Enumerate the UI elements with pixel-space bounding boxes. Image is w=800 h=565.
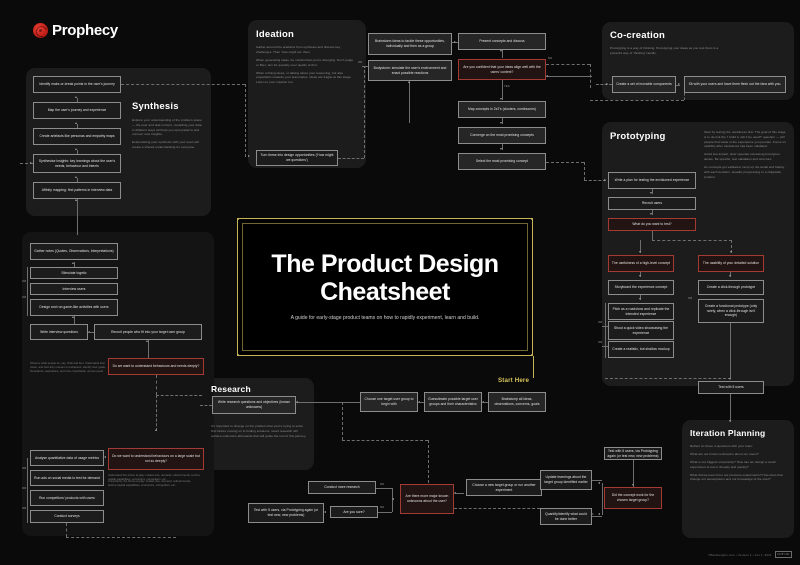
flow-box-pro8[interactable]: Shoot a quick video showcasing the exper… xyxy=(608,321,674,340)
connector xyxy=(502,80,503,100)
edge-label-or: OR xyxy=(22,487,26,490)
flow-box-res13[interactable]: Analyse quantitative data of usage metri… xyxy=(30,450,104,466)
page-subtitle: A guide for early-stage product teams on… xyxy=(291,315,480,323)
arrow-down xyxy=(729,275,731,277)
section-body-synthesis: Explore your understanding of the proble… xyxy=(132,118,204,153)
connector xyxy=(602,483,603,515)
connector-dashed xyxy=(66,537,176,538)
section-body-ideation: Gather around the artefacts from synthes… xyxy=(256,45,356,88)
flow-box-res7[interactable]: Interview users xyxy=(30,283,118,295)
arrow-up xyxy=(146,340,148,342)
flow-box-pro11[interactable]: Create a functional prototype (only rare… xyxy=(698,299,764,323)
flow-box-itr4[interactable]: Test with 5 users, via Prototyping again… xyxy=(248,503,324,523)
edge-label-no: NO xyxy=(548,57,552,60)
arrow-down xyxy=(639,275,641,277)
connector-dashed xyxy=(156,375,157,395)
arrow-right xyxy=(30,162,32,164)
connector-dashed xyxy=(342,440,428,441)
connector xyxy=(592,516,602,517)
flow-box-pro12[interactable]: Test with 5 users xyxy=(698,381,764,394)
edge-label-or: OR xyxy=(22,507,26,510)
flow-box-ide5-decision[interactable]: Are you confident that your ideas align … xyxy=(458,59,546,80)
edge-label-or: OR xyxy=(358,61,362,64)
flow-box-ide8[interactable]: Select the most promising concept xyxy=(458,153,546,170)
flow-box-syn1[interactable]: Identify make-or-break points in the use… xyxy=(33,76,121,93)
connector-dashed xyxy=(590,100,684,101)
arrow-down xyxy=(500,122,502,124)
flow-box-syn2[interactable]: Map the user's journey and experience xyxy=(33,102,121,119)
connector xyxy=(605,303,606,358)
arrow-up xyxy=(72,316,74,318)
flow-box-res8[interactable]: Design and run game-like activities with… xyxy=(30,299,118,316)
flow-box-itr8[interactable]: Quantify/identify what could be done bet… xyxy=(540,508,592,525)
page-title: The Product Design Cheatsheet xyxy=(243,251,527,306)
edge-label-no: NO xyxy=(380,506,384,509)
arrow-down xyxy=(730,251,732,253)
connector-dashed xyxy=(342,402,343,440)
connector xyxy=(418,402,424,403)
corner-dot xyxy=(531,218,534,221)
corner-dot xyxy=(237,354,240,357)
connector xyxy=(392,488,393,512)
flow-box-res16[interactable]: Conduct surveys xyxy=(30,510,104,523)
section-title-cocreation: Co-creation xyxy=(610,30,665,41)
flow-box-itr7[interactable]: Update learnings about the target group … xyxy=(540,470,592,490)
connector-dashed xyxy=(584,162,585,180)
section-body-research: It's important to diverge on the problem… xyxy=(211,424,307,442)
flow-box-res15[interactable]: Run competitors' products with users xyxy=(30,490,104,506)
flow-box-res9[interactable]: Write interview questions xyxy=(30,324,88,340)
edge-label-or: OR xyxy=(688,297,692,300)
edge-label-or: OR xyxy=(598,321,602,324)
arrow-left xyxy=(104,456,106,458)
flow-box-ide7[interactable]: Converge on the most promising concepts xyxy=(458,127,546,144)
arrow-right xyxy=(606,83,608,85)
flow-box-res4[interactable]: Braindump all ideas, observations, conce… xyxy=(488,392,546,412)
flow-box-ide1[interactable]: Turn these into design opportunities ('H… xyxy=(256,150,338,166)
arrow-left xyxy=(392,498,394,500)
connector-dashed xyxy=(605,378,731,379)
edge-label-or: OR xyxy=(22,280,26,283)
flow-box-pro3-decision[interactable]: What do you want to test? xyxy=(608,218,696,231)
corner-dot xyxy=(237,218,240,221)
section-body-cocreation: Prototyping is a way of thinking. Protot… xyxy=(610,46,728,59)
section-body-prototyping: Start by testing the usefulness first. T… xyxy=(704,130,788,183)
flow-box-res6[interactable]: Stimulate togetic xyxy=(30,267,118,279)
flow-box-pro2[interactable]: Recruit users xyxy=(608,197,696,210)
flow-box-itr3[interactable]: Are you sure? xyxy=(330,506,378,518)
flow-box-pro10[interactable]: Create a click-through prototype xyxy=(698,280,764,295)
prophecy-swirl-icon xyxy=(33,23,48,38)
connector-dashed xyxy=(684,93,685,100)
section-title-synthesis: Synthesis xyxy=(132,101,179,112)
arrow-left xyxy=(598,513,600,515)
flow-box-itr6-decision[interactable]: Did the concept work for the chosen targ… xyxy=(604,487,662,509)
flow-box-pro1[interactable]: Write a plan for testing the envisioned … xyxy=(608,172,696,189)
arrow-right xyxy=(248,155,250,157)
edge-label-or: OR xyxy=(22,296,26,299)
arrow-up xyxy=(75,199,77,201)
hero-to-start-connector xyxy=(533,356,534,378)
flow-box-res1[interactable]: Write research questions and objectives … xyxy=(212,396,296,414)
flow-box-res2[interactable]: Choose one target user group to begin wi… xyxy=(360,392,418,412)
arrow-up xyxy=(408,81,410,83)
connector-dashed xyxy=(121,84,245,85)
connector xyxy=(378,512,392,513)
flow-box-res10[interactable]: Recruit people who fit into your target … xyxy=(94,324,202,340)
connector xyxy=(652,231,653,240)
flow-box-itr5[interactable]: Choose a new target group or run another… xyxy=(466,479,542,496)
flow-box-syn4[interactable]: Synthesise insights: key learnings about… xyxy=(33,154,121,173)
section-title-research: Research xyxy=(211,384,251,394)
flow-box-ide4[interactable]: Present concepts and discuss xyxy=(458,33,546,50)
flow-box-coc1[interactable]: Create a set of movable components xyxy=(612,76,676,93)
flow-box-res3[interactable]: Guesstimate possible target user groups … xyxy=(424,392,482,412)
footer: ©BauDesigns.com • Version 1 • Jun 1, 202… xyxy=(708,551,792,558)
connector xyxy=(88,332,94,333)
connector-dashed xyxy=(584,180,606,181)
flow-box-res5[interactable]: Gather notes (Quotes, Observations, inte… xyxy=(30,243,118,260)
arrow-down xyxy=(650,192,652,194)
connector-dashed xyxy=(156,395,202,396)
flow-box-pro5[interactable]: The usability of your detailed solution xyxy=(698,255,764,272)
connector xyxy=(376,488,392,489)
connector xyxy=(148,340,149,358)
arrow-down xyxy=(650,213,652,215)
arrow-left xyxy=(546,75,548,77)
flow-box-pro9[interactable]: Create a realistic, but shallow mockup xyxy=(608,341,674,358)
cheatsheet-canvas: Prophecy The Product Design Cheatsheet A… xyxy=(0,0,800,565)
hero-card: The Product Design Cheatsheet A guide fo… xyxy=(237,218,533,356)
arrow-right xyxy=(454,41,456,43)
edge-label-yes: YES xyxy=(504,85,510,88)
research-note-observe: Observe what people do, say, think and f… xyxy=(30,362,106,374)
start-here-label: Start Here xyxy=(498,377,529,384)
connector xyxy=(27,267,28,316)
connector xyxy=(730,323,731,378)
connector xyxy=(676,85,680,86)
arrow-right xyxy=(604,179,606,181)
arrow-down xyxy=(500,98,502,100)
brand-logo: Prophecy xyxy=(33,22,118,39)
flow-box-res12-decision[interactable]: Do we want to understand behaviours on a… xyxy=(108,448,204,470)
connector-dashed xyxy=(338,158,364,159)
flow-box-syn3[interactable]: Create artefacts like personas and empat… xyxy=(33,128,121,145)
flow-box-res11-decision[interactable]: Do we want to understand behaviours and … xyxy=(108,358,204,375)
connector xyxy=(730,394,731,422)
connector-dashed xyxy=(364,70,365,158)
connector xyxy=(27,458,28,523)
connector xyxy=(77,199,78,235)
flow-box-coc2[interactable]: Sit with your users and have them flesh … xyxy=(684,76,786,93)
flow-box-ide6[interactable]: Map concepts in 2x2's (clusters, continu… xyxy=(458,101,546,118)
arrow-down xyxy=(729,420,731,422)
arrow-down xyxy=(500,148,502,150)
connector xyxy=(454,493,464,494)
connector xyxy=(502,50,503,58)
connector xyxy=(633,460,634,487)
research-note-forces: Understand the forces at play: market si… xyxy=(108,474,202,482)
flow-box-ide3[interactable]: Bodystorm: simulate the user's environme… xyxy=(368,60,452,81)
arrow-up xyxy=(155,429,157,431)
connector xyxy=(362,66,368,67)
arrow-down xyxy=(639,251,641,253)
panel-ideation xyxy=(248,20,366,168)
connector-dashed xyxy=(200,405,212,406)
flow-box-itr1-decision[interactable]: Are there more major known unknowns abou… xyxy=(400,484,454,514)
flow-box-res14[interactable]: Run ads on social media to test for dema… xyxy=(30,470,104,486)
flow-box-pro4[interactable]: The usefulness of a high-level concept xyxy=(608,255,674,272)
connector-dashed xyxy=(156,395,157,431)
connector xyxy=(482,402,488,403)
arrow-down xyxy=(632,484,634,486)
edge-label-or: OR xyxy=(22,467,26,470)
flow-box-test-users[interactable]: Test with 5 users, via Prototyping again… xyxy=(604,447,662,460)
flow-box-itr2[interactable]: Conduct more research xyxy=(308,481,376,494)
arrow-left xyxy=(324,511,326,513)
arrow-down xyxy=(729,378,731,380)
arrow-left xyxy=(598,482,600,484)
arrow-left xyxy=(296,401,298,403)
brand-name: Prophecy xyxy=(52,22,118,39)
connector xyxy=(592,480,602,481)
connector-dashed xyxy=(596,84,612,85)
edge-label-no: NO xyxy=(380,483,384,486)
edge-label-or: OR xyxy=(598,341,602,344)
section-title-ideation: Ideation xyxy=(256,29,294,40)
section-title-iteration: Iteration Planning xyxy=(690,428,765,438)
footer-credit: ©BauDesigns.com • Version 1 • Jun 1, 202… xyxy=(708,553,772,557)
connector-dashed xyxy=(66,523,67,537)
section-title-prototyping: Prototyping xyxy=(610,131,666,142)
connector xyxy=(546,76,592,77)
connector-dashed xyxy=(454,508,540,509)
connector-dashed xyxy=(546,162,584,163)
connector-dashed xyxy=(428,440,429,488)
connector xyxy=(296,402,360,403)
connector-dashed xyxy=(652,240,732,241)
connector-dashed xyxy=(546,64,590,65)
license-badge: CC BY-NC xyxy=(775,551,792,558)
connector-dashed xyxy=(245,84,246,157)
flow-box-pro6[interactable]: Storyboard the experience concept xyxy=(608,280,674,295)
flow-box-ide2[interactable]: Brainstorm ideas to tackle these opportu… xyxy=(368,33,452,55)
section-body-iteration: Reflect on these 4 questions with your t… xyxy=(690,444,788,485)
flow-box-syn5[interactable]: Affinity mapping: find patterns in inter… xyxy=(33,182,121,199)
arrow-down xyxy=(639,298,641,300)
connector xyxy=(409,81,410,123)
flow-box-pro7[interactable]: Pitch as a roadshow and replicate the in… xyxy=(608,303,674,320)
